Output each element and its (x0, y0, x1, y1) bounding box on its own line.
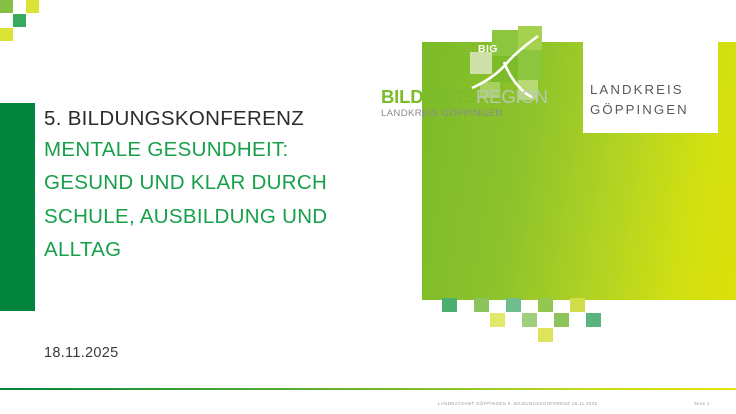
landkreis-line-2: GÖPPINGEN (590, 100, 715, 120)
bildungsregion-word: BILDUNGSREGION (381, 88, 547, 107)
landkreis-line-1: LANDKREIS (590, 80, 715, 100)
bildungsregion-word-light: REGION (476, 86, 548, 107)
right-graphic-composition: LANDKREIS GÖPPINGEN BIG BILDUNGSREGION L… (378, 0, 736, 330)
landkreis-wordmark: LANDKREIS GÖPPINGEN (590, 80, 715, 120)
subtitle-line-1: MENTALE GESUNDHEIT: (44, 133, 394, 166)
bottom-checker-decoration (378, 298, 736, 346)
subtitle-line-2: GESUND UND KLAR DURCH (44, 166, 394, 199)
top-left-checker-cell (13, 14, 26, 27)
bildungsregion-subline: LANDKREIS GÖPPINGEN (381, 108, 547, 119)
bottom-checker-cell (538, 328, 553, 342)
bottom-checker-cell (506, 298, 521, 312)
bildungsregion-wordmark: BILDUNGSREGION LANDKREIS GÖPPINGEN (381, 88, 547, 119)
footer-page-number: Seite 1 (694, 401, 709, 406)
subtitle-line-4: ALLTAG (44, 233, 394, 266)
top-left-checker-cell (0, 28, 13, 41)
slide-root: 5. BILDUNGSKONFERENZ MENTALE GESUNDHEIT:… (0, 0, 736, 414)
footer-gradient-rule (0, 388, 736, 390)
bottom-checker-cell (538, 298, 553, 312)
bildungsregion-logo: BIG BILDUNGSREGION LANDKREIS GÖPPINGEN (378, 26, 548, 134)
bottom-checker-cell (522, 313, 537, 327)
top-left-checker-cell (0, 0, 13, 13)
bottom-checker-cell (554, 313, 569, 327)
top-left-checker-decoration (0, 0, 52, 52)
bottom-checker-cell (586, 313, 601, 327)
top-left-checker-cell (26, 0, 39, 13)
title-block: 5. BILDUNGSKONFERENZ MENTALE GESUNDHEIT:… (44, 104, 394, 266)
left-accent-bar (0, 103, 35, 311)
slide-date: 18.11.2025 (44, 345, 119, 361)
bottom-checker-cell (570, 298, 585, 312)
bildungsregion-word-bold: BILDUNGS (381, 86, 476, 107)
bottom-checker-cell (474, 298, 489, 312)
bottom-checker-cell (442, 298, 457, 312)
subtitle-line-3: SCHULE, AUSBILDUNG UND (44, 200, 394, 233)
big-mark-label: BIG (478, 43, 498, 55)
footer-text: LANDRATSAMT GÖPPINGEN 5. BILDUNGSKONFERE… (438, 401, 597, 406)
bottom-checker-cell (490, 313, 505, 327)
page-title: 5. BILDUNGSKONFERENZ (44, 104, 394, 133)
